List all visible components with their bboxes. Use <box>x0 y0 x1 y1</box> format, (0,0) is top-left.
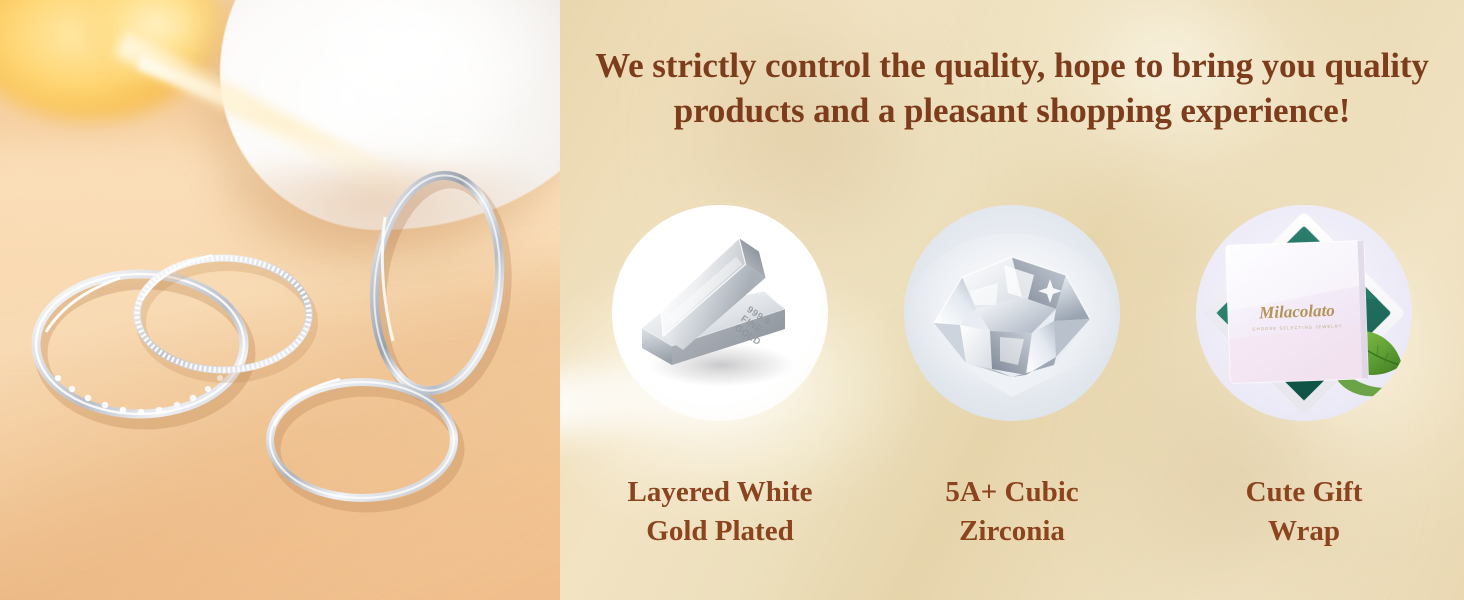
headline-line-1: We strictly control the quality, hope to… <box>595 46 1429 85</box>
feature-label-line-2: Zirconia <box>959 515 1065 547</box>
product-feature-banner: We strictly control the quality, hope to… <box>0 0 1464 600</box>
headline-line-2: products and a pleasant shopping experie… <box>674 91 1351 130</box>
feature-panel: We strictly control the quality, hope to… <box>560 0 1464 600</box>
feature-item-gift-wrap: Milacolato CHOOSE SELECTING JEWELRY Cute… <box>1174 205 1434 551</box>
feature-list: 999.9 FINE GOLD Layered White Gold Plate… <box>560 205 1464 551</box>
plain-band-ring-upright <box>363 165 513 400</box>
hammered-thin-band-ring <box>262 370 462 510</box>
feature-item-gold-plated: 999.9 FINE GOLD Layered White Gold Plate… <box>590 205 850 551</box>
feature-label-line-2: Gold Plated <box>646 515 793 547</box>
feature-item-cubic-zirconia: 5A+ Cubic Zirconia <box>882 205 1142 551</box>
feature-label-line-2: Wrap <box>1268 515 1340 547</box>
feature-label-gold-plated: Layered White Gold Plated <box>627 473 812 551</box>
product-photo-panel <box>0 0 560 600</box>
gold-bars-icon: 999.9 FINE GOLD <box>612 205 828 421</box>
gift-box-icon: Milacolato CHOOSE SELECTING JEWELRY <box>1196 205 1412 421</box>
brand-wordmark: Milacolato <box>1258 301 1335 323</box>
feature-label-gift-wrap: Cute Gift Wrap <box>1246 473 1363 551</box>
feature-label-cubic-zirconia: 5A+ Cubic Zirconia <box>945 473 1078 551</box>
gift-box-brand: Milacolato CHOOSE SELECTING JEWELRY <box>1252 300 1343 331</box>
diamond-icon <box>904 205 1120 421</box>
headline: We strictly control the quality, hope to… <box>560 44 1464 134</box>
feature-label-line-1: Layered White <box>627 476 812 508</box>
beaded-milgrain-ring <box>128 248 318 378</box>
feature-label-line-1: 5A+ Cubic <box>945 476 1078 508</box>
feature-label-line-1: Cute Gift <box>1246 476 1363 508</box>
